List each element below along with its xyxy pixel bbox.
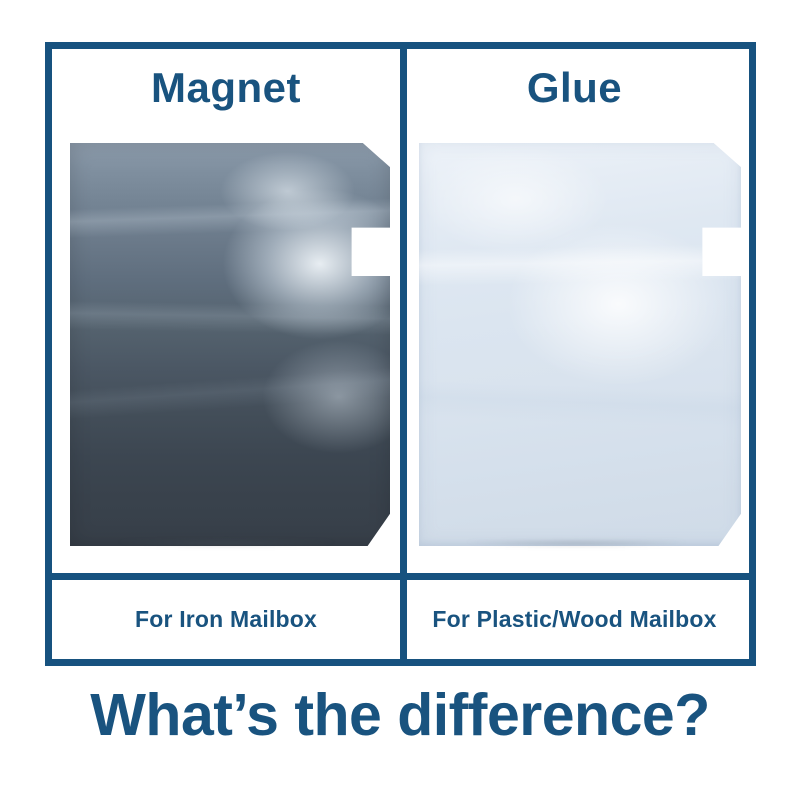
comparison-column-glue: Glue xyxy=(400,49,742,573)
headline-text: What’s the difference? xyxy=(0,686,800,745)
column-title-magnet: Magnet xyxy=(52,67,400,109)
comparison-caption-row: For Iron Mailbox For Plastic/Wood Mailbo… xyxy=(52,573,749,659)
column-title-glue: Glue xyxy=(407,67,742,109)
product-image-glue xyxy=(419,143,741,546)
comparison-column-magnet: Magnet xyxy=(52,49,400,573)
product-image-magnet xyxy=(70,143,390,546)
comparison-frame: Magnet Glue For Iron Mailbox For Plastic… xyxy=(45,42,756,666)
comparison-image-row: Magnet Glue xyxy=(52,49,749,573)
caption-magnet: For Iron Mailbox xyxy=(52,580,400,659)
caption-glue: For Plastic/Wood Mailbox xyxy=(400,580,742,659)
adhesive-sheet-graphic xyxy=(419,143,741,546)
magnetic-sheet-graphic xyxy=(70,143,390,546)
